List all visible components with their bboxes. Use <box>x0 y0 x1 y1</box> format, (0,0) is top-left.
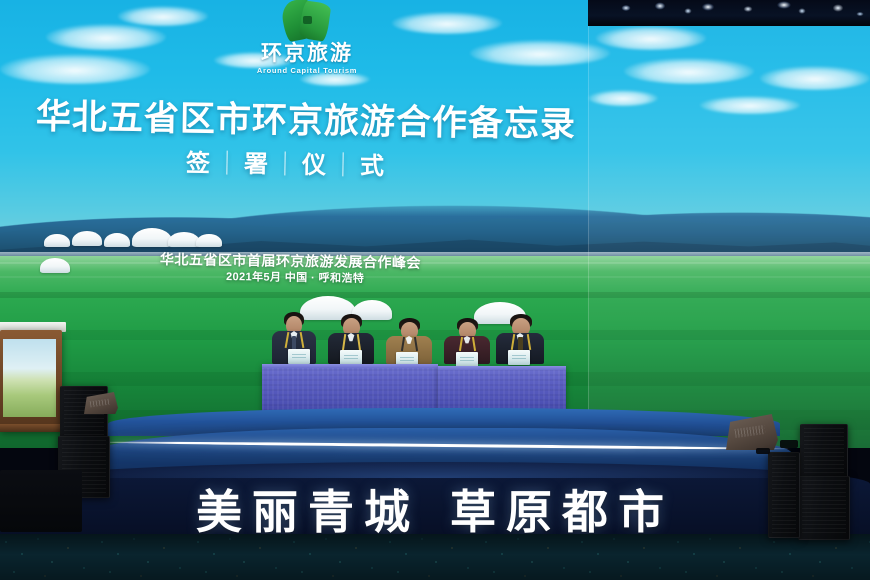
yurt <box>44 234 70 247</box>
subtitle-char-2: 署 <box>244 151 271 178</box>
cloud <box>392 12 502 34</box>
logo-chinese-text: 环京旅游 <box>242 43 372 64</box>
left-equipment-case <box>0 470 82 532</box>
framed-display-base <box>0 424 68 432</box>
event-photo-scene: 环京旅游 Around Capital Tourism 华北五省区市环京旅游合作… <box>0 0 870 580</box>
framed-grassland-display <box>0 330 62 430</box>
cloud <box>0 54 150 84</box>
yurt <box>196 234 222 247</box>
led-panel-seam <box>588 26 870 448</box>
banner-slogan-right: 草原都市 <box>450 486 674 538</box>
right-speaker-side-cabinet <box>768 452 800 538</box>
signing-folder <box>456 352 478 367</box>
subtitle-char-4: 式 <box>360 153 387 180</box>
subtitle-char-3: 仪 <box>302 152 329 179</box>
ceremony-subtitle: 签｜署｜仪｜式 <box>186 143 587 184</box>
banner-slogan: 美丽青城草原都市 <box>0 476 870 542</box>
right-speaker-cabinet-upper <box>800 424 848 480</box>
yurt <box>72 231 102 246</box>
subtitle-char-1: 签 <box>186 150 213 177</box>
headline-text: 华北五省区市环京旅游合作备忘录 <box>36 88 557 147</box>
signing-folder <box>288 349 310 364</box>
ceiling-light-rig <box>588 0 870 26</box>
speaker-cable <box>780 440 798 448</box>
signing-folder <box>508 350 530 365</box>
event-logo: 环京旅游 Around Capital Tourism <box>242 0 372 75</box>
cloud <box>118 6 208 26</box>
yurt <box>104 233 130 247</box>
yurt <box>132 228 172 247</box>
banner-slogan-left: 美丽青城 <box>196 486 420 538</box>
right-speaker-cabinet-lower <box>798 476 850 540</box>
logo-english-text: Around Capital Tourism <box>242 66 372 75</box>
green-leaf-mark-icon <box>279 0 335 44</box>
carpet-shading <box>0 534 870 580</box>
yurt <box>40 258 70 273</box>
signing-folder <box>340 350 362 365</box>
cloud <box>46 24 166 50</box>
speaker-cable <box>756 448 770 454</box>
